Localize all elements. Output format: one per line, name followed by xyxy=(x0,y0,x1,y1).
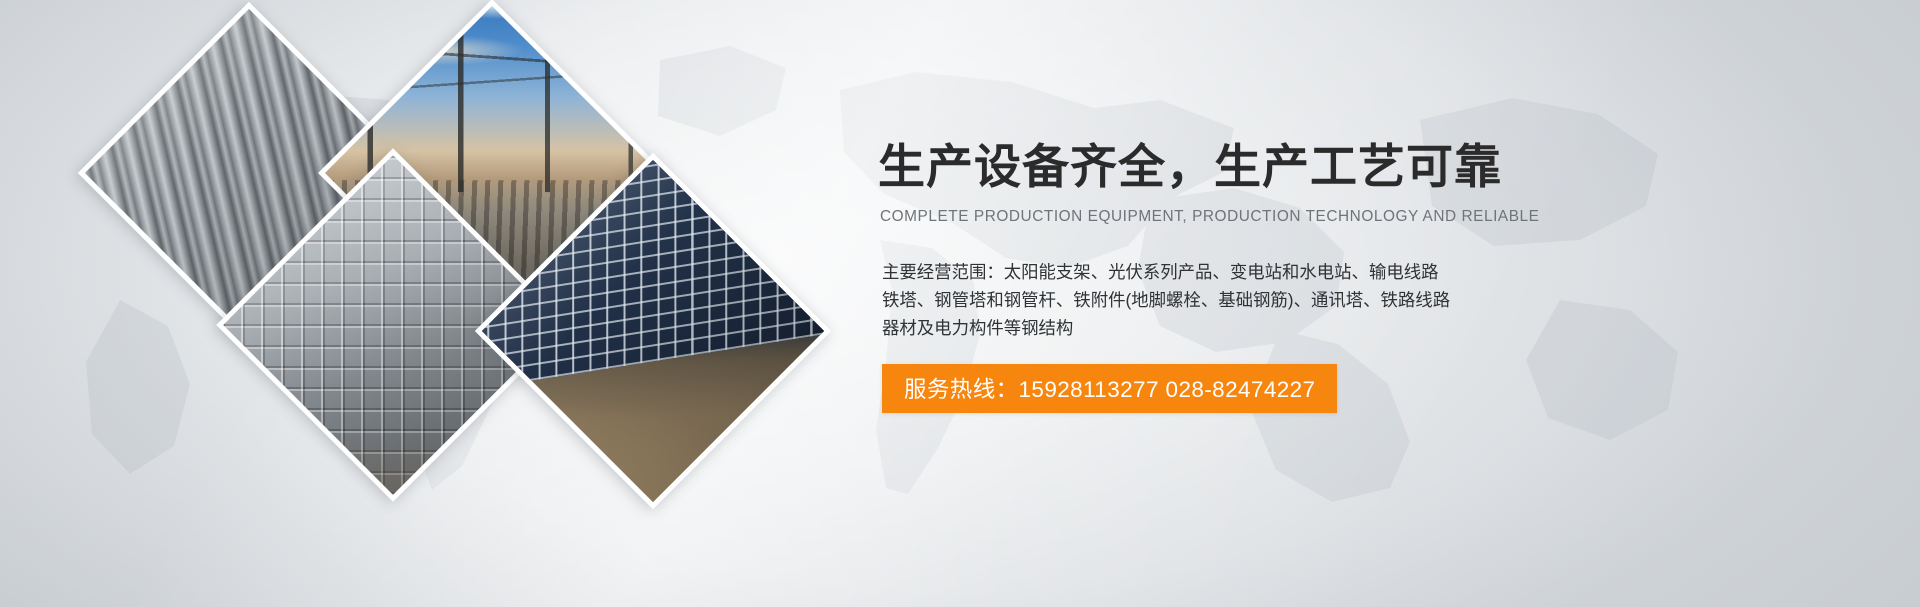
promo-banner: 生产设备齐全，生产工艺可靠 COMPLETE PRODUCTION EQUIPM… xyxy=(0,0,1920,607)
banner-copy: 生产设备齐全，生产工艺可靠 COMPLETE PRODUCTION EQUIPM… xyxy=(878,140,1838,413)
diamond-photo-cluster xyxy=(0,0,900,607)
service-hotline-bar[interactable]: 服务热线：15928113277 028-82474227 xyxy=(882,364,1337,413)
banner-subheadline: COMPLETE PRODUCTION EQUIPMENT, PRODUCTIO… xyxy=(880,208,1838,226)
body-line-1: 主要经营范围：太阳能支架、光伏系列产品、变电站和水电站、输电线路 xyxy=(882,258,1838,286)
banner-body: 主要经营范围：太阳能支架、光伏系列产品、变电站和水电站、输电线路 铁塔、钢管塔和… xyxy=(882,258,1838,343)
banner-headline: 生产设备齐全，生产工艺可靠 xyxy=(878,140,1838,195)
body-line-2: 铁塔、钢管塔和钢管杆、铁附件(地脚螺栓、基础钢筋)、通讯塔、铁路线路 xyxy=(882,286,1838,314)
body-line-3: 器材及电力构件等钢结构 xyxy=(882,314,1838,342)
